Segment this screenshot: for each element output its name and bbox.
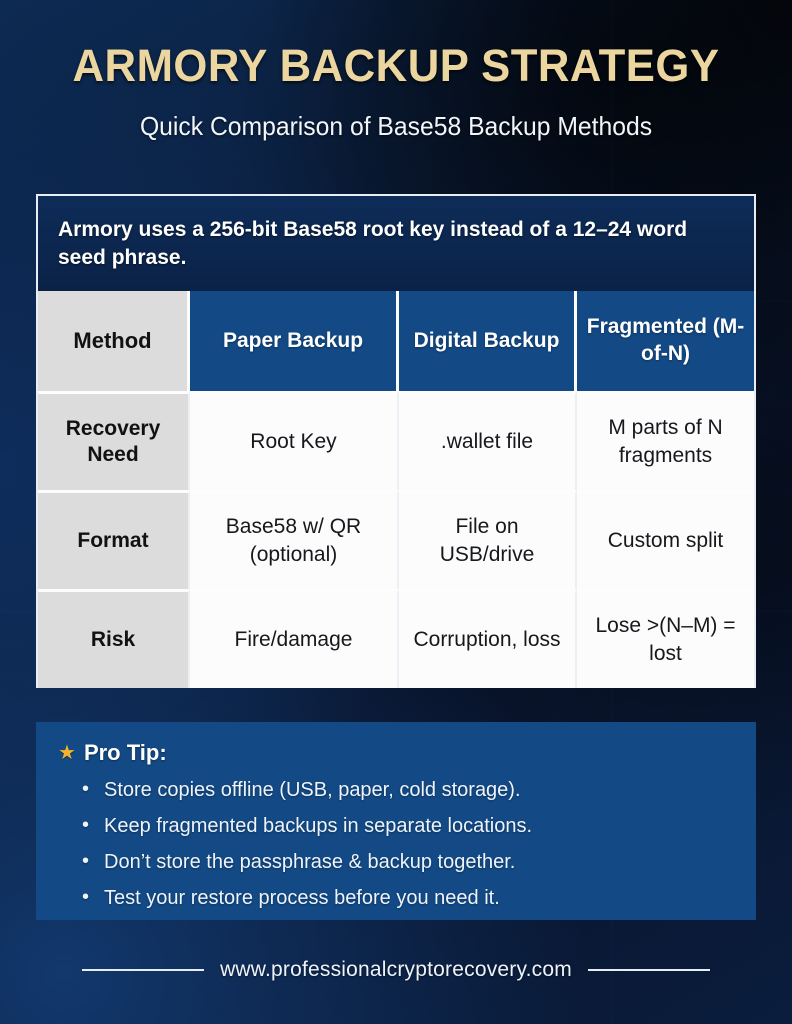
pro-tip-list: Store copies offline (USB, paper, cold s… <box>58 772 734 916</box>
infographic-page: ARMORY BACKUP STRATEGY Quick Comparison … <box>0 0 792 1024</box>
star-icon: ★ <box>58 743 76 763</box>
column-header-paper-backup: Paper Backup <box>190 291 399 391</box>
table-row: Format Base58 w/ QR (optional) File on U… <box>38 490 754 589</box>
footer-url: www.professionalcryptorecovery.com <box>220 958 572 982</box>
cell-risk-digital: Corruption, loss <box>399 589 577 688</box>
pro-tip-title: Pro Tip: <box>84 740 167 766</box>
list-item: Keep fragmented backups in separate loca… <box>82 808 734 844</box>
column-header-fragmented: Fragmented (M-of-N) <box>577 291 754 391</box>
list-item: Store copies offline (USB, paper, cold s… <box>82 772 734 808</box>
column-header-method: Method <box>38 291 190 391</box>
footer-rule-right <box>588 969 710 971</box>
row-header-format: Format <box>38 490 190 589</box>
page-title: ARMORY BACKUP STRATEGY <box>12 40 780 92</box>
intro-text: Armory uses a 256-bit Base58 root key in… <box>58 216 734 272</box>
cell-format-digital: File on USB/drive <box>399 490 577 589</box>
pro-tip-panel: ★ Pro Tip: Store copies offline (USB, pa… <box>36 722 756 920</box>
comparison-table: Armory uses a 256-bit Base58 root key in… <box>36 194 756 688</box>
column-header-digital-backup: Digital Backup <box>399 291 577 391</box>
cell-recovery-paper: Root Key <box>190 391 399 490</box>
table-row: Recovery Need Root Key .wallet file M pa… <box>38 391 754 490</box>
cell-format-fragmented: Custom split <box>577 490 754 589</box>
cell-recovery-digital: .wallet file <box>399 391 577 490</box>
row-header-risk: Risk <box>38 589 190 688</box>
page-subtitle: Quick Comparison of Base58 Backup Method… <box>20 111 772 142</box>
cell-recovery-fragmented: M parts of N fragments <box>577 391 754 490</box>
list-item: Test your restore process before you nee… <box>82 880 734 916</box>
cell-risk-paper: Fire/damage <box>190 589 399 688</box>
footer: www.professionalcryptorecovery.com <box>0 958 792 982</box>
list-item: Don’t store the passphrase & backup toge… <box>82 844 734 880</box>
row-header-recovery-need: Recovery Need <box>38 391 190 490</box>
cell-risk-fragmented: Lose >(N–M) = lost <box>577 589 754 688</box>
intro-banner: Armory uses a 256-bit Base58 root key in… <box>38 196 754 291</box>
footer-rule-left <box>82 969 204 971</box>
cell-format-paper: Base58 w/ QR (optional) <box>190 490 399 589</box>
table-header-row: Method Paper Backup Digital Backup Fragm… <box>38 291 754 391</box>
pro-tip-header: ★ Pro Tip: <box>58 740 734 766</box>
table-row: Risk Fire/damage Corruption, loss Lose >… <box>38 589 754 688</box>
